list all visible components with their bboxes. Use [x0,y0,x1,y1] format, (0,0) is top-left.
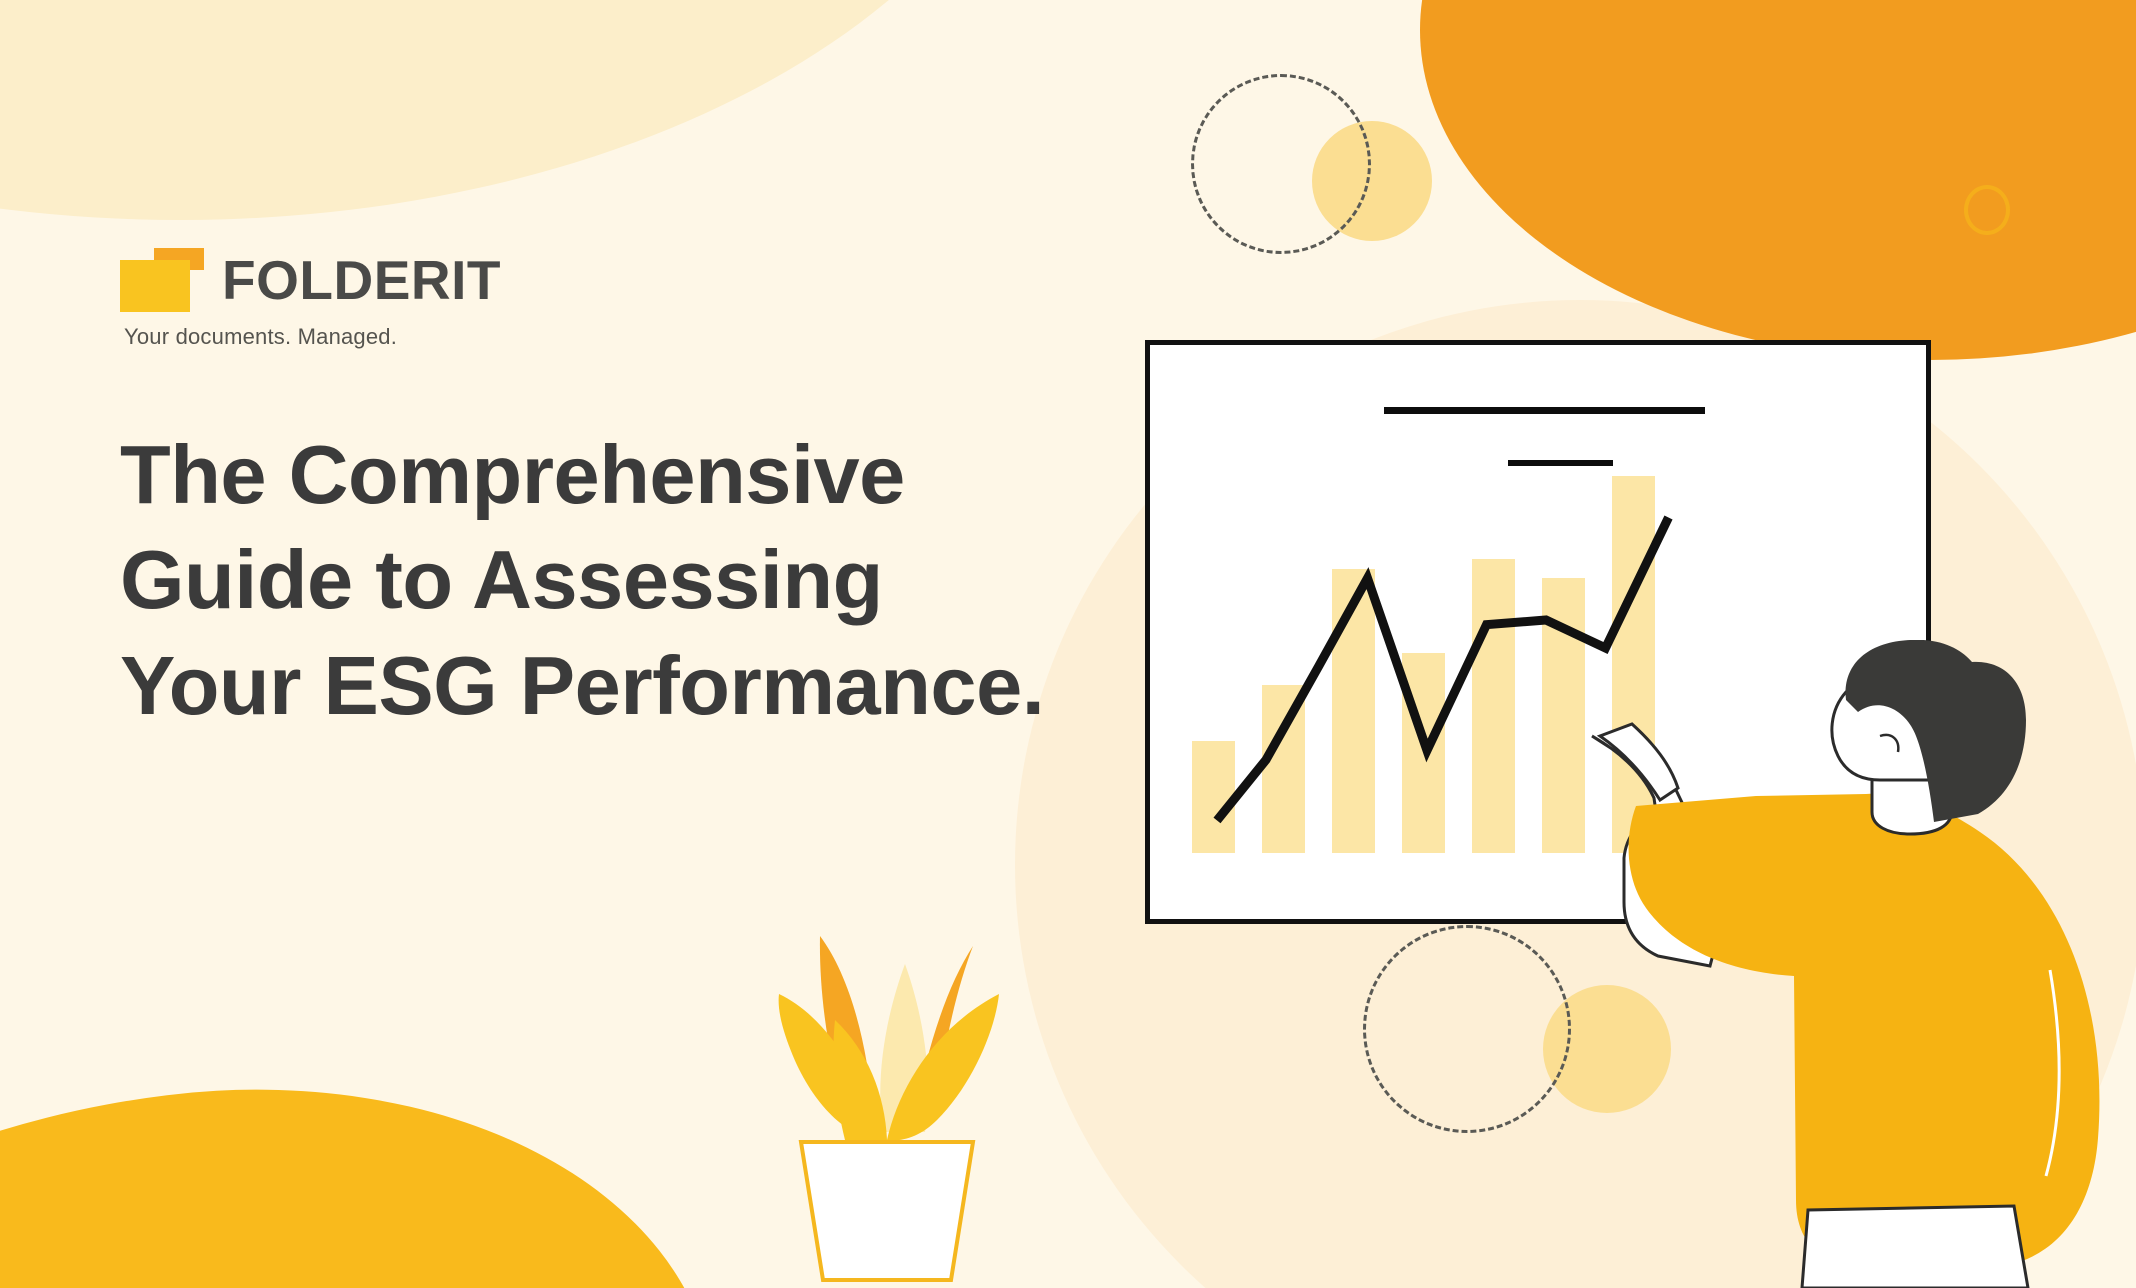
headline-line-2: Guide to Assessing [120,527,1120,632]
sweater-shape [1629,794,2100,1268]
folder-icon-body [120,260,190,312]
brand-logo: FOLDERIT Your documents. Managed. [120,248,501,350]
presenter-illustration [1580,640,2136,1288]
logo-wordmark: FOLDERIT [222,253,501,308]
plant-illustration [775,928,1035,1288]
dashed-circle-bottom [1363,925,1571,1133]
page-title: The Comprehensive Guide to Assessing You… [120,422,1120,738]
decor-ring-icon [1964,185,2010,235]
cover-canvas: FOLDERIT Your documents. Managed. The Co… [0,0,2136,1288]
headline-line-3: Your ESG Performance. [120,633,1120,738]
plant-pot [801,1142,973,1280]
folder-icon [120,248,204,312]
plant-svg [775,928,1035,1288]
top-left-blob-shape [0,0,1060,220]
presenter-svg [1580,640,2136,1288]
dashed-circle-top [1191,74,1371,254]
headline-line-1: The Comprehensive [120,422,1120,527]
index-finger [1600,724,1678,800]
logo-tagline: Your documents. Managed. [124,324,501,350]
trousers-shape [1802,1206,2028,1288]
bottom-left-yellow-blob [0,1033,740,1288]
